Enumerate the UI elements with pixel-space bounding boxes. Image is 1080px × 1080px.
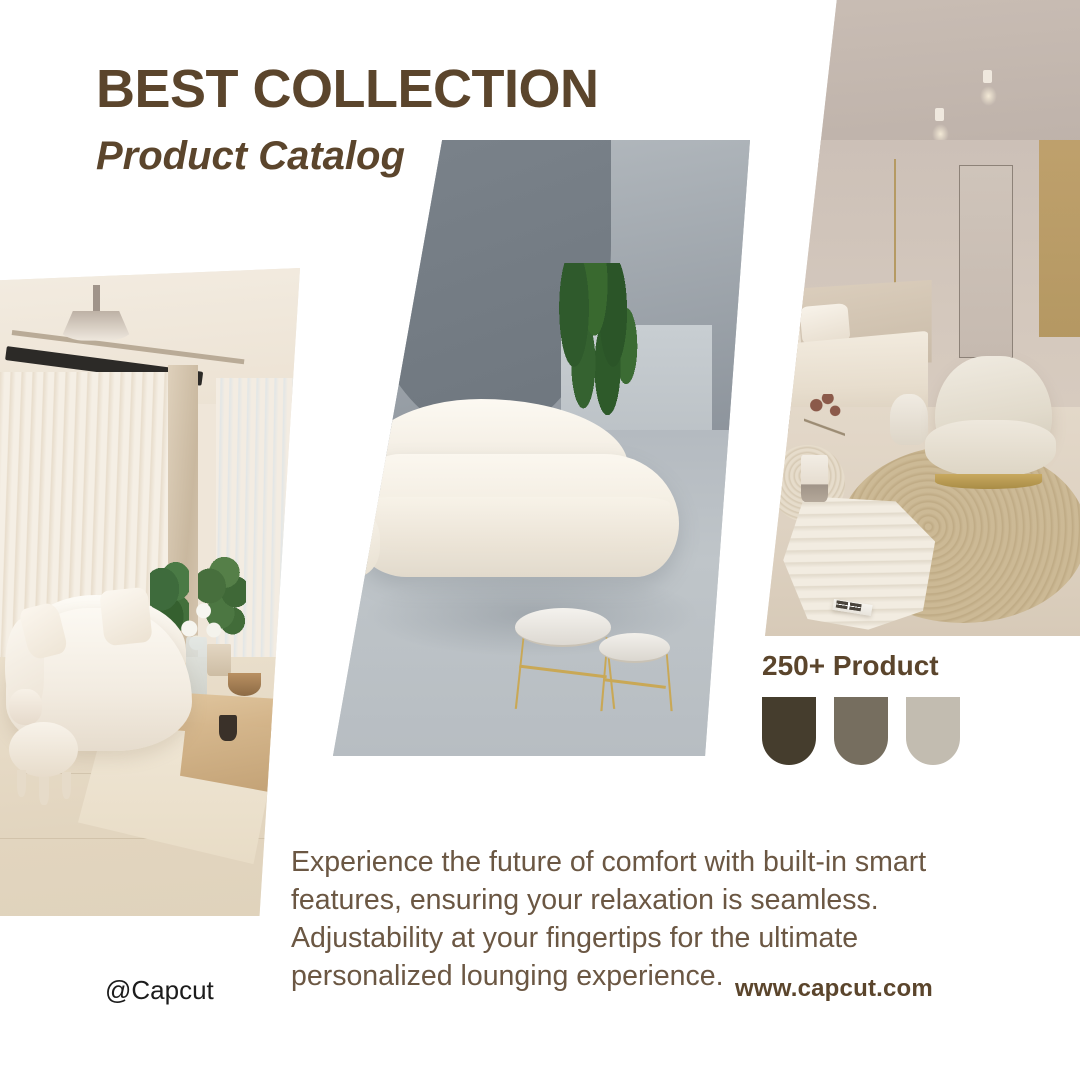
cushion	[99, 586, 152, 646]
product-count-label: 250+ Product	[762, 652, 960, 680]
social-handle: @Capcut	[105, 975, 214, 1006]
marble-coffee-table	[515, 608, 612, 647]
swatch-light-greige[interactable]	[906, 697, 960, 765]
dried-stems	[804, 394, 845, 464]
small-stool	[9, 689, 42, 725]
wall-tapestry	[1039, 140, 1080, 337]
ottoman-leg	[62, 772, 72, 799]
studio-illustration	[330, 140, 750, 756]
swatch-dark-olive[interactable]	[762, 697, 816, 765]
pillow	[751, 310, 802, 352]
chair-brass-base	[935, 474, 1042, 489]
ceiling-spotlight	[983, 70, 992, 83]
round-pouf	[330, 510, 380, 578]
book-cover-image	[836, 601, 861, 611]
page-subtitle: Product Catalog	[96, 116, 599, 176]
chair-seat	[925, 420, 1056, 477]
products-block: 250+ Product	[762, 652, 960, 765]
swatch-taupe[interactable]	[834, 697, 888, 765]
spotlight-glow	[980, 86, 997, 106]
page-title: BEST COLLECTION	[96, 62, 599, 116]
ottoman-leg	[17, 770, 27, 797]
living-room-photo	[0, 268, 300, 916]
studio-sofa-photo	[330, 140, 750, 756]
coffee-table-book	[833, 599, 874, 616]
dark-cup	[219, 715, 237, 741]
door	[959, 165, 1013, 358]
color-swatch-row	[762, 697, 960, 765]
round-ottoman	[9, 722, 78, 777]
ceiling-spotlight	[935, 108, 944, 121]
pendant-rod	[93, 285, 100, 315]
bedroom-illustration	[735, 0, 1080, 636]
description-text: Experience the future of comfort with bu…	[291, 843, 961, 996]
living-room-illustration	[0, 268, 300, 916]
pendant-rod	[894, 159, 896, 299]
ceramic-vase	[801, 455, 829, 503]
marble-side-table	[599, 633, 670, 663]
ottoman-leg	[39, 777, 49, 804]
website-url[interactable]: www.capcut.com	[735, 975, 933, 1003]
poster-canvas: BEST COLLECTION Product Catalog	[0, 0, 1080, 1080]
sofa-seat	[368, 497, 670, 552]
headline-block: BEST COLLECTION Product Catalog	[96, 62, 599, 176]
small-stool	[890, 394, 928, 445]
bedroom-photo	[735, 0, 1080, 636]
